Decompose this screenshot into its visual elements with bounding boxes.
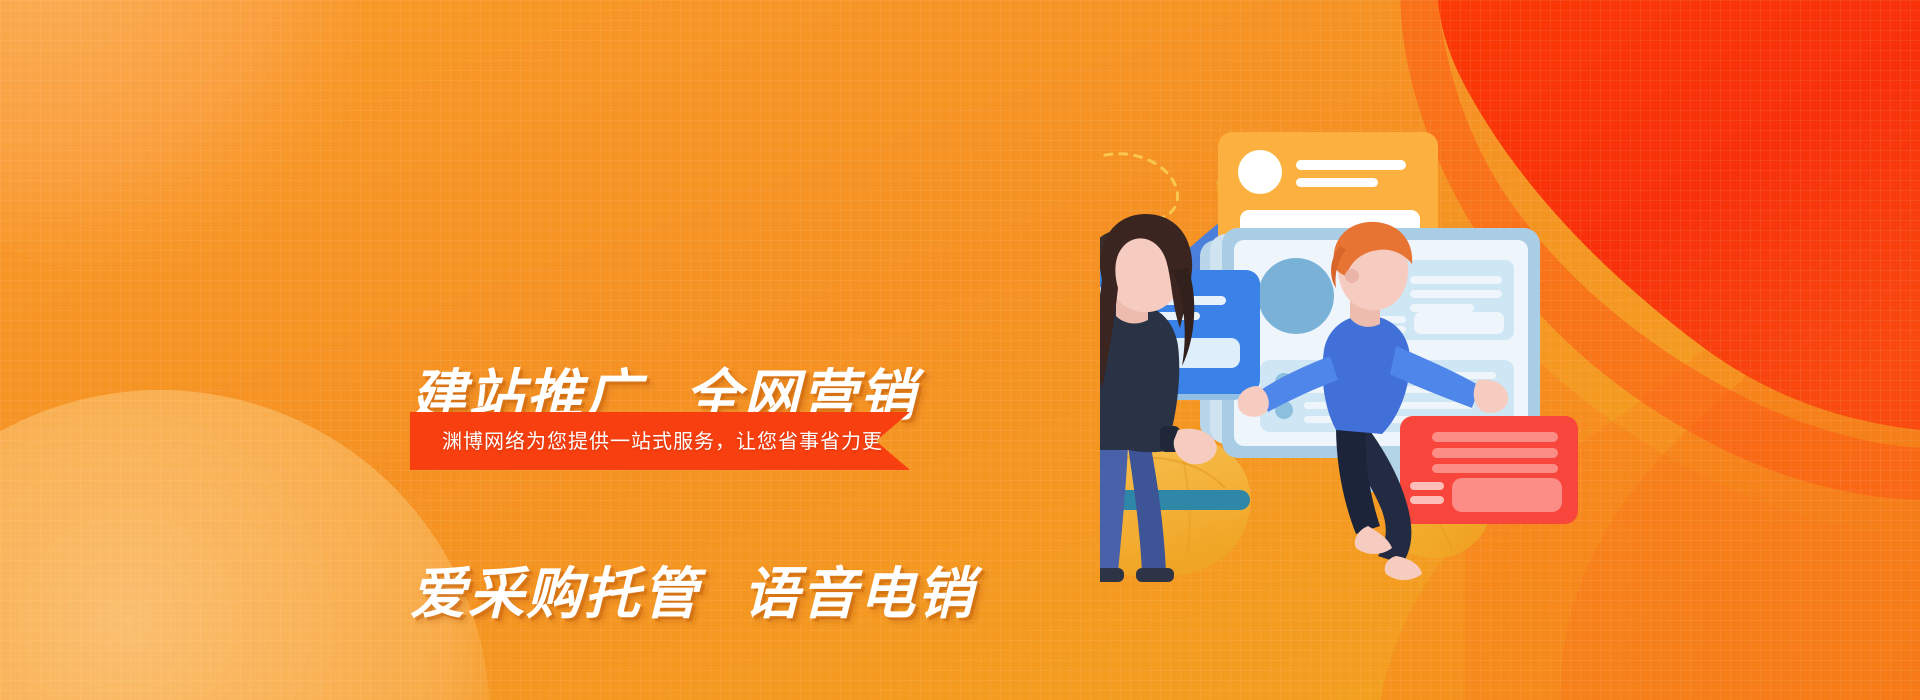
- red-profile-card: [1400, 416, 1578, 524]
- tagline-text: 渊博网络为您提供一站式服务，让您省事省力更省心: [410, 431, 925, 451]
- promo-banner: 建站推广 全网营销 爱采购托管 语音电销 渊博网络为您提供一站式服务，让您省事省…: [0, 0, 1920, 700]
- tagline-ribbon: 渊博网络为您提供一站式服务，让您省事省力更省心: [410, 412, 910, 470]
- headline-line-2: 爱采购托管 语音电销: [410, 562, 1130, 628]
- hero-illustration: [1100, 120, 1700, 620]
